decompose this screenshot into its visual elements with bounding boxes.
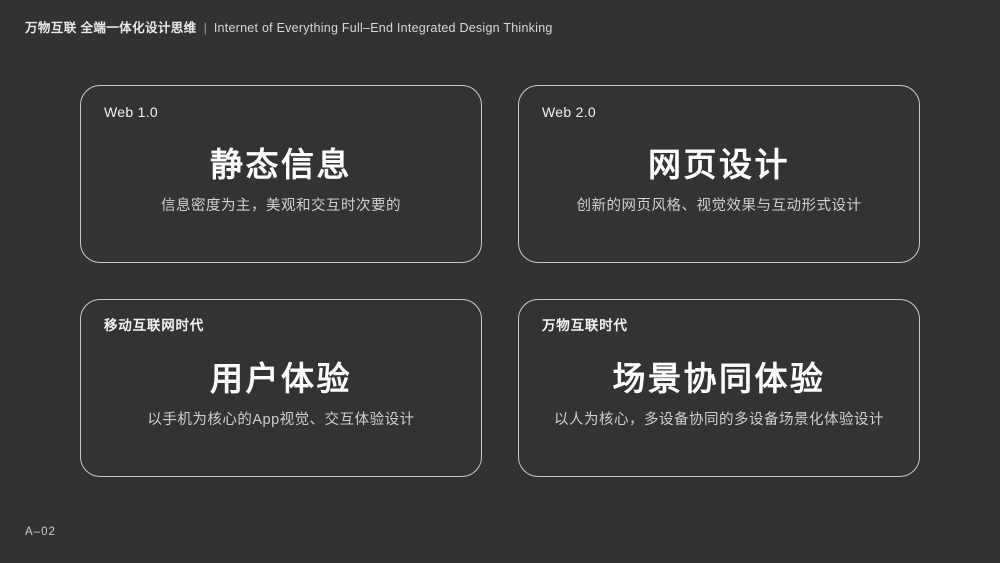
- slide-header: 万物互联 全端一体化设计思维 | Internet of Everything …: [25, 22, 553, 35]
- card-mobile-internet-era[interactable]: 移动互联网时代 用户体验 以手机为核心的App视觉、交互体验设计: [80, 299, 482, 477]
- header-title-english: Internet of Everything Full–End Integrat…: [214, 22, 553, 35]
- card-description: 信息密度为主，美观和交互时次要的: [147, 197, 415, 216]
- card-description: 以手机为核心的App视觉、交互体验设计: [133, 411, 428, 430]
- card-description: 创新的网页风格、视觉效果与互动形式设计: [563, 197, 876, 216]
- card-body: 静态信息 信息密度为主，美观和交互时次要的: [81, 144, 481, 215]
- card-label: Web 1.0: [104, 104, 158, 121]
- card-title: 场景协同体验: [613, 358, 826, 399]
- slide-page-label: A–02: [25, 527, 56, 539]
- card-label: 万物互联时代: [542, 318, 628, 334]
- card-title: 用户体验: [210, 358, 352, 399]
- card-body: 场景协同体验 以人为核心，多设备协同的多设备场景化体验设计: [519, 358, 919, 429]
- card-label: Web 2.0: [542, 104, 596, 121]
- card-iot-era[interactable]: 万物互联时代 场景协同体验 以人为核心，多设备协同的多设备场景化体验设计: [518, 299, 920, 477]
- card-title: 网页设计: [648, 144, 790, 185]
- card-title: 静态信息: [210, 144, 352, 185]
- card-web-1-0[interactable]: Web 1.0 静态信息 信息密度为主，美观和交互时次要的: [80, 85, 482, 263]
- header-title-chinese: 万物互联 全端一体化设计思维: [25, 22, 197, 35]
- header-separator: |: [204, 22, 207, 35]
- card-description: 以人为核心，多设备协同的多设备场景化体验设计: [540, 411, 898, 430]
- card-body: 网页设计 创新的网页风格、视觉效果与互动形式设计: [519, 144, 919, 215]
- card-grid: Web 1.0 静态信息 信息密度为主，美观和交互时次要的 Web 2.0 网页…: [80, 85, 920, 477]
- slide-canvas: 万物互联 全端一体化设计思维 | Internet of Everything …: [0, 0, 1000, 563]
- card-body: 用户体验 以手机为核心的App视觉、交互体验设计: [81, 358, 481, 429]
- card-label: 移动互联网时代: [104, 318, 204, 334]
- card-web-2-0[interactable]: Web 2.0 网页设计 创新的网页风格、视觉效果与互动形式设计: [518, 85, 920, 263]
